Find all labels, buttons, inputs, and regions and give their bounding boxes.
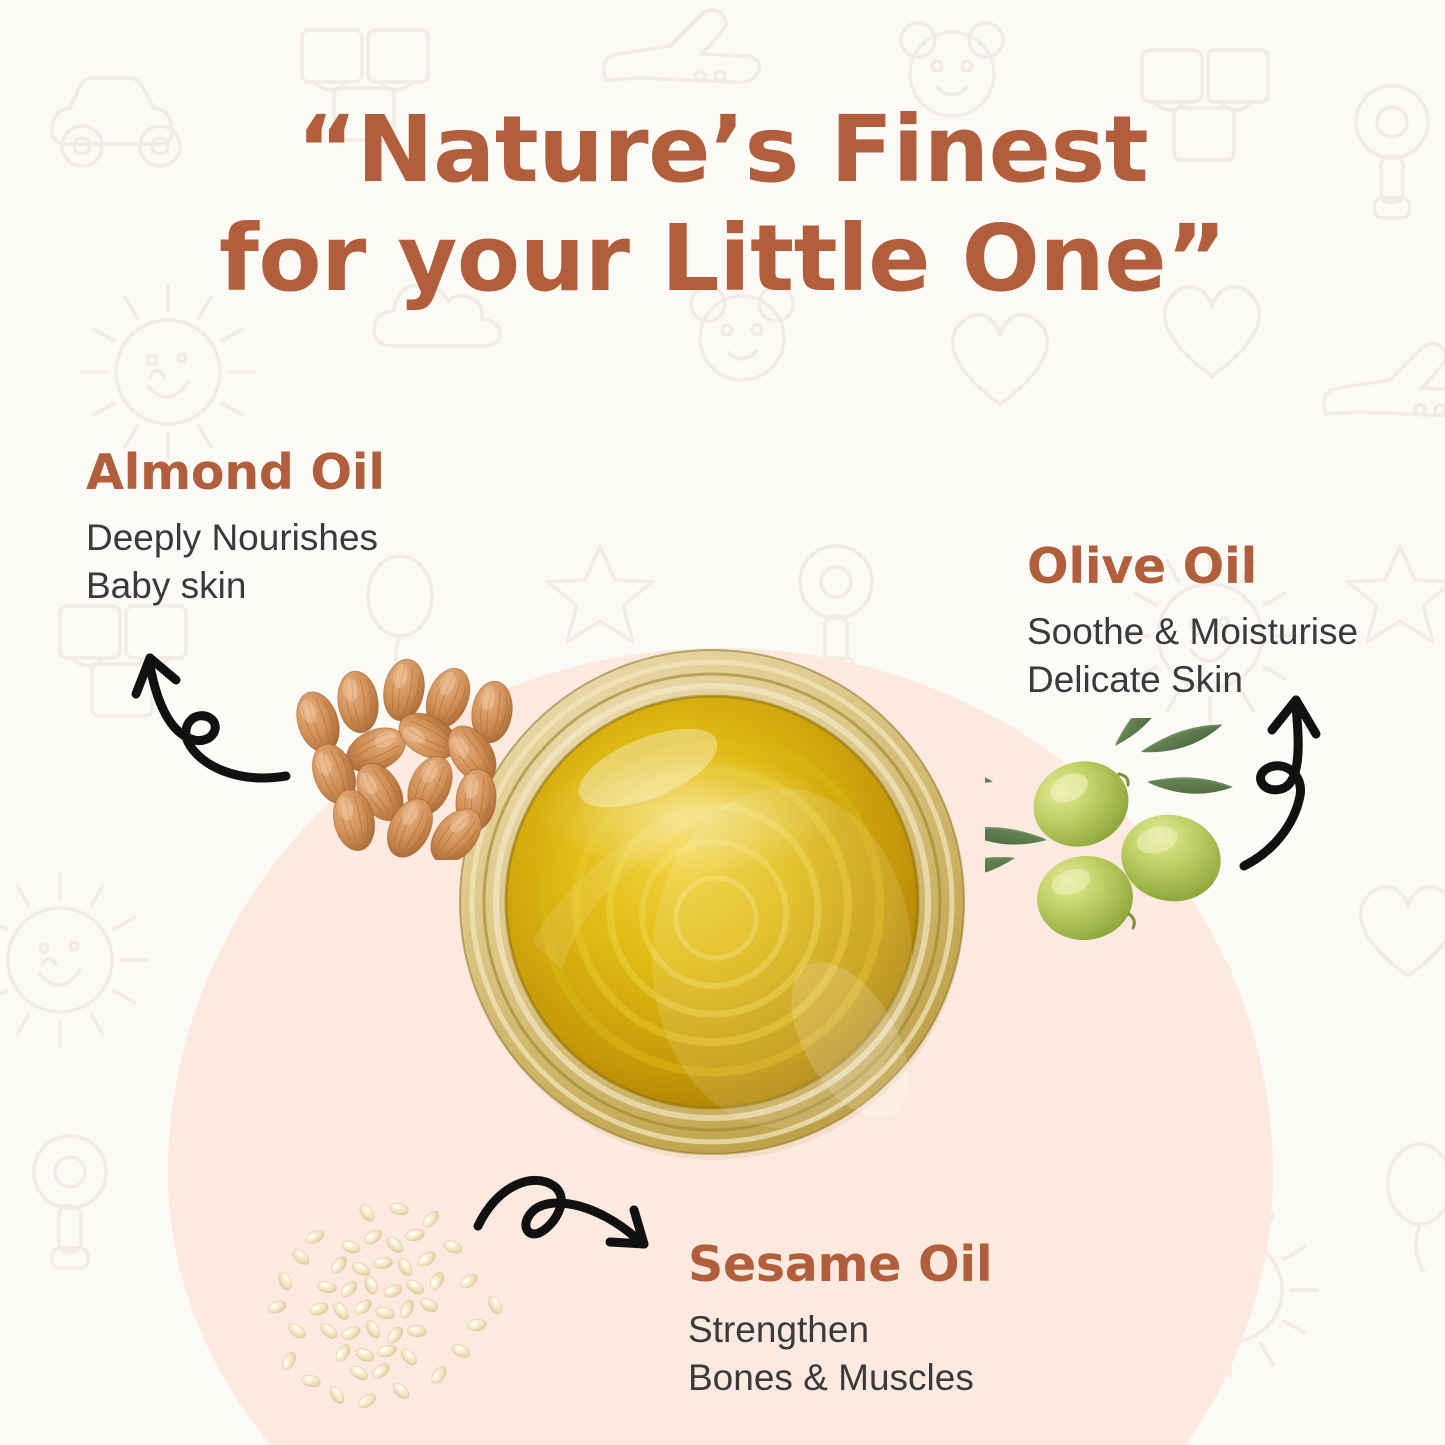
almonds-image xyxy=(276,650,536,860)
ingredient-desc-olive-line-1: Soothe & Moisturise xyxy=(1027,608,1358,656)
ingredient-label-olive: Olive Oil Soothe & Moisturise Delicate S… xyxy=(1027,540,1358,704)
olives-image xyxy=(985,718,1265,964)
headline-line-1: “Nature’s Finest xyxy=(0,96,1445,205)
sesame-seeds-image xyxy=(255,1185,545,1420)
ingredient-label-sesame: Sesame Oil Strengthen Bones & Muscles xyxy=(688,1238,992,1402)
ingredient-desc-olive: Soothe & Moisturise Delicate Skin xyxy=(1027,608,1358,704)
ingredient-desc-olive-line-2: Delicate Skin xyxy=(1027,656,1358,704)
headline-line-2: for your Little One” xyxy=(0,205,1445,314)
ingredient-desc-almond: Deeply Nourishes Baby skin xyxy=(86,514,385,610)
ingredient-title-sesame: Sesame Oil xyxy=(688,1238,992,1292)
ingredient-desc-sesame-line-2: Bones & Muscles xyxy=(688,1354,992,1402)
ingredient-title-olive: Olive Oil xyxy=(1027,540,1358,594)
ingredient-infographic-poster: “Nature’s Finest for your Little One” xyxy=(0,0,1445,1445)
ingredient-label-almond: Almond Oil Deeply Nourishes Baby skin xyxy=(86,446,385,610)
page-title: “Nature’s Finest for your Little One” xyxy=(0,96,1445,313)
curly-arrow-up-left-icon xyxy=(128,636,298,796)
ingredient-desc-sesame: Strengthen Bones & Muscles xyxy=(688,1306,992,1402)
ingredient-desc-sesame-line-1: Strengthen xyxy=(688,1306,992,1354)
ingredient-desc-almond-line-2: Baby skin xyxy=(86,562,385,610)
ingredient-title-almond: Almond Oil xyxy=(86,446,385,500)
ingredient-desc-almond-line-1: Deeply Nourishes xyxy=(86,514,385,562)
